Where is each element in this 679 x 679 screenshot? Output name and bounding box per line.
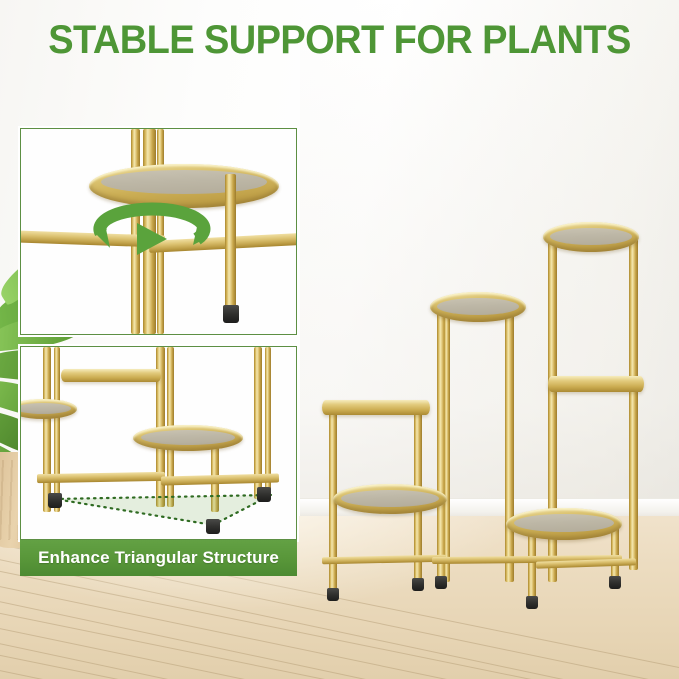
inset-rotation-canvas	[21, 129, 296, 334]
inset2-tray-left	[21, 399, 77, 419]
dotted-triangle-icon	[21, 477, 296, 539]
inset-caption-text: Enhance Triangular Structure	[38, 548, 279, 568]
inset2-foot-cap	[257, 487, 271, 502]
inset-triangle-canvas	[21, 347, 296, 539]
inset2-foot-cap	[206, 519, 220, 534]
inset2-tray-center	[133, 425, 243, 451]
page-title: STABLE SUPPORT FOR PLANTS	[17, 18, 662, 63]
inset-rotation-detail	[20, 128, 297, 335]
inset2-tray-upper	[61, 369, 161, 382]
decor-plant	[0, 0, 679, 679]
inset-support-leg	[225, 174, 236, 309]
inset-triangular-detail	[20, 346, 297, 540]
inset-caption-bar: Enhance Triangular Structure	[20, 540, 297, 576]
product-feature-graphic: Enhance Triangular Structure STABLE SUPP…	[0, 0, 679, 679]
rotation-arrow-icon	[93, 209, 213, 261]
tray-rim	[133, 425, 243, 451]
inset2-foot-cap	[48, 493, 62, 508]
inset-foot-cap	[223, 305, 239, 323]
tray-rim	[89, 164, 279, 208]
inset-rotating-tray	[89, 164, 279, 208]
tray-rim	[21, 399, 77, 419]
